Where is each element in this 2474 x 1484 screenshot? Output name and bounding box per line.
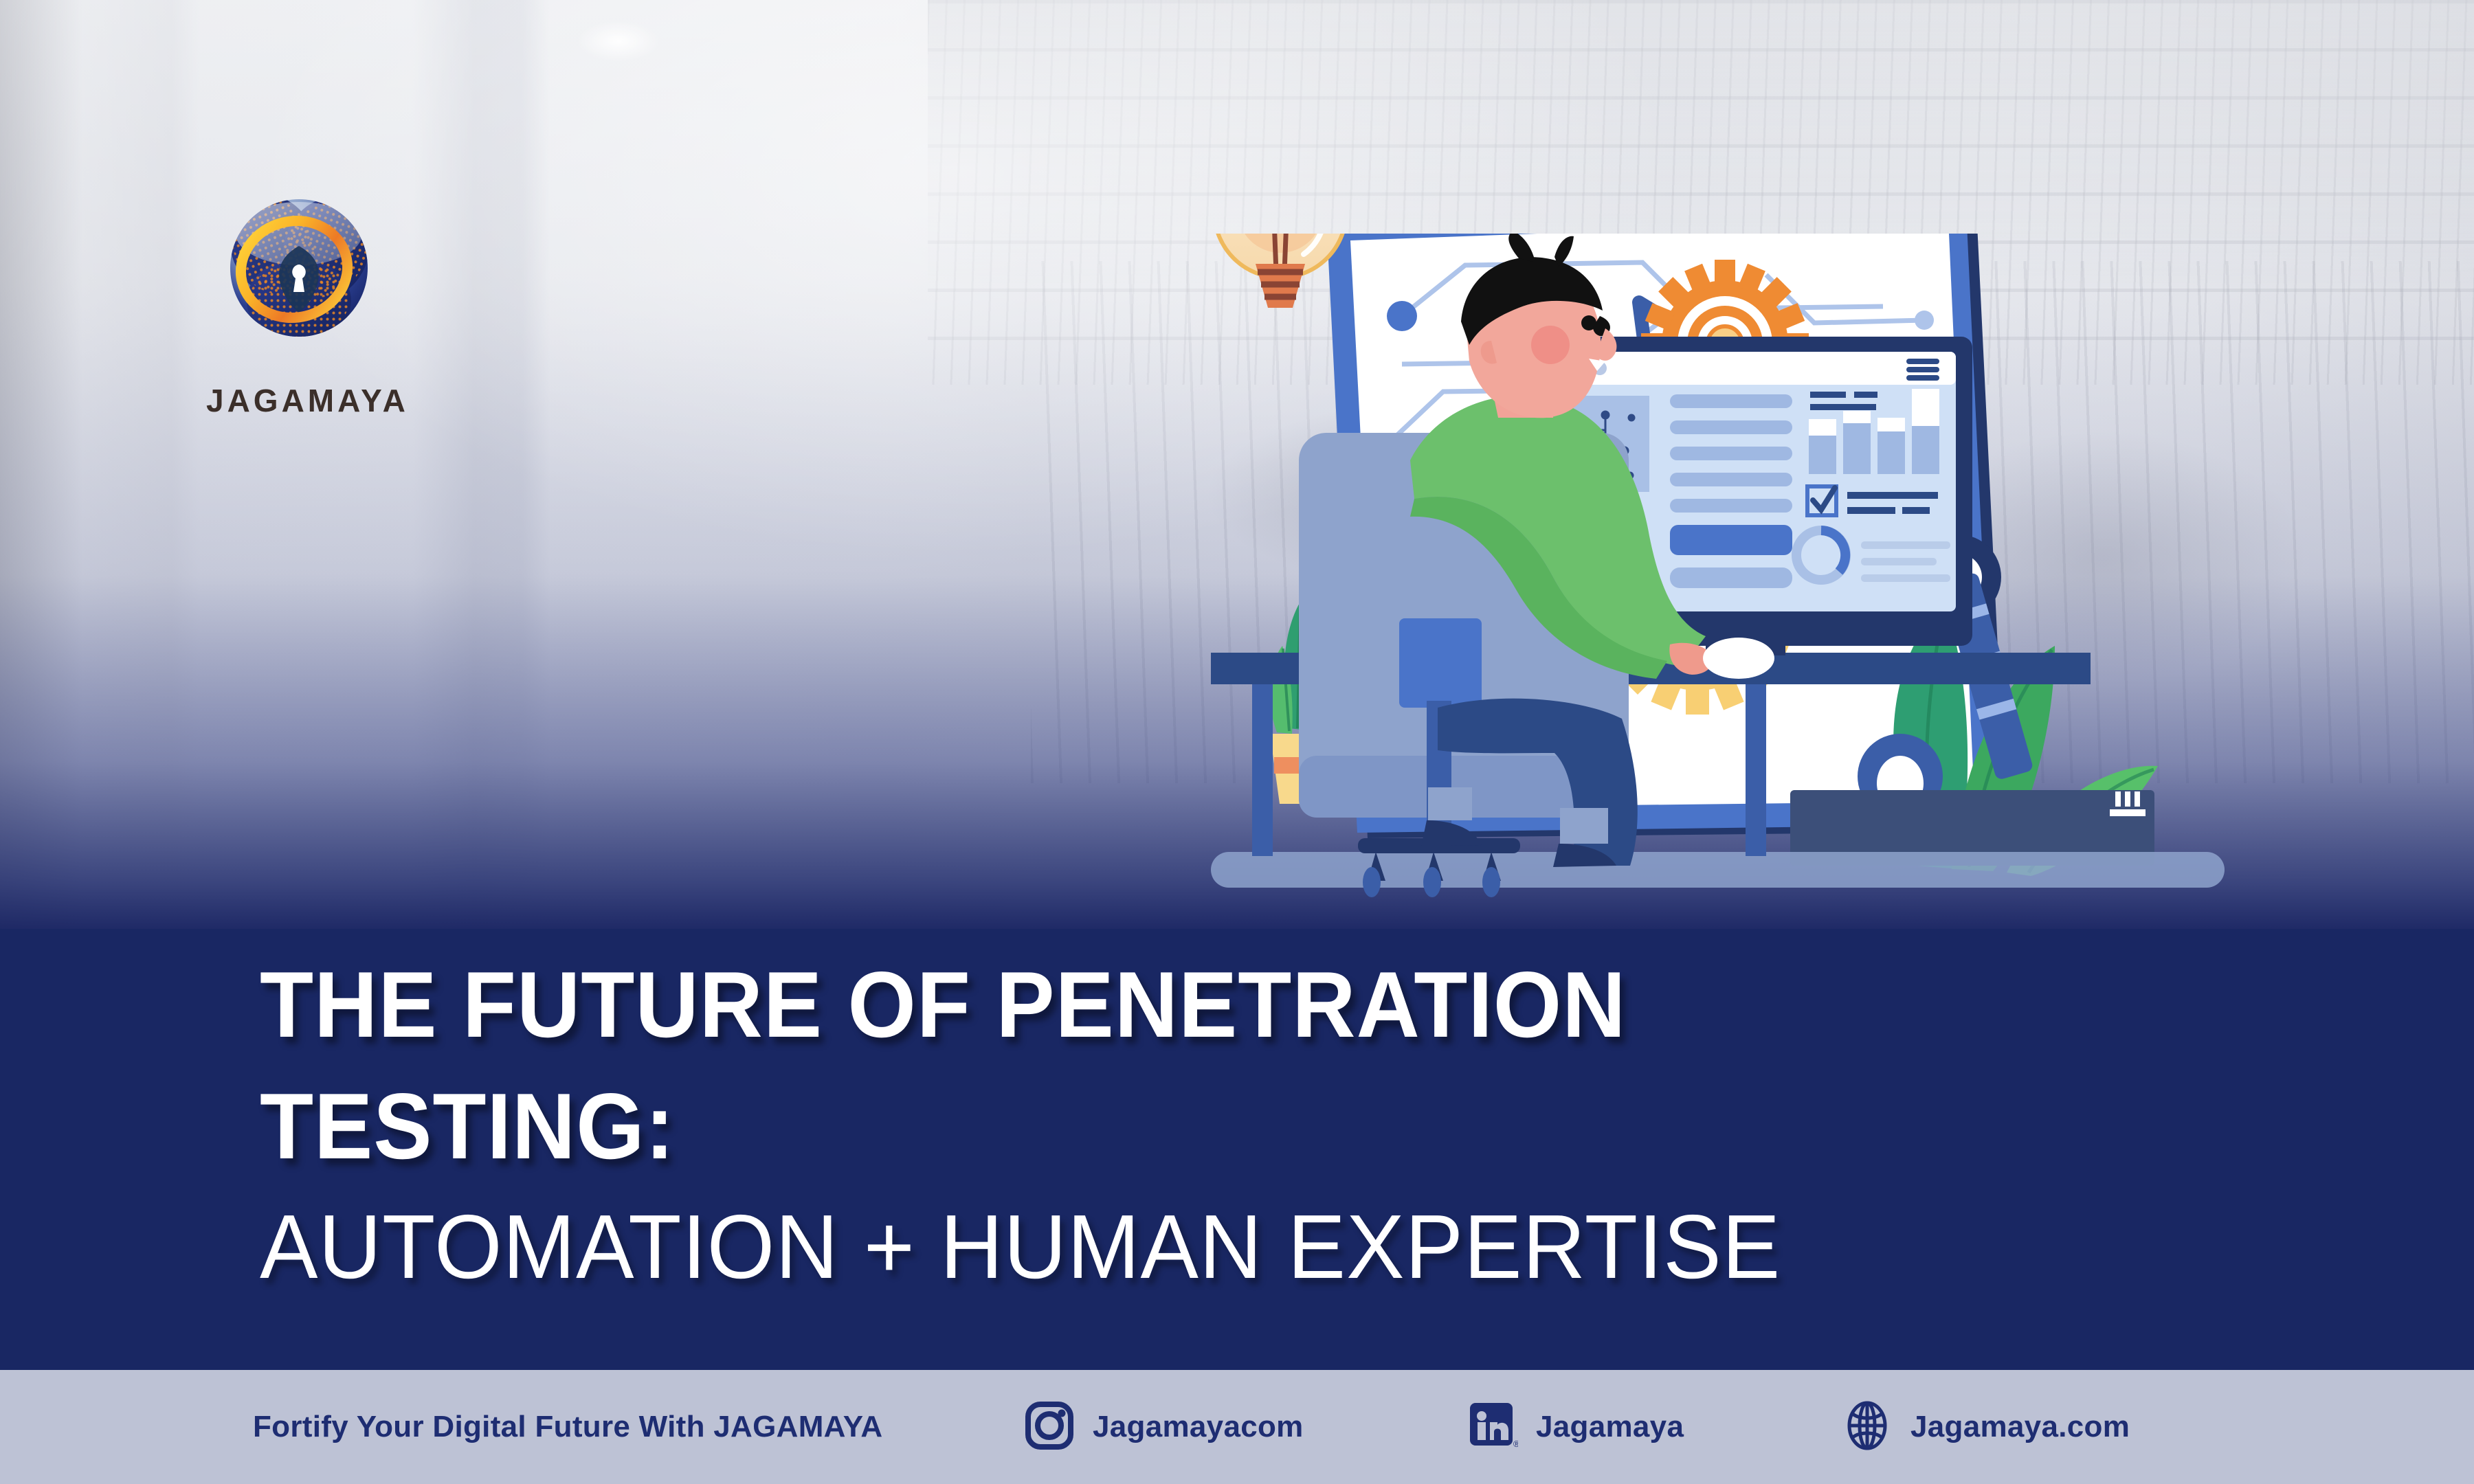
footer-contact-website[interactable]: Jagamaya.com — [1842, 1400, 2130, 1454]
brand-logo-block: JAGAMAYA — [206, 192, 392, 419]
linkedin-handle: Jagamaya — [1536, 1410, 1684, 1444]
headline-subtitle: AUTOMATION + HUMAN EXPERTISE — [260, 1200, 2305, 1295]
brand-wordmark: JAGAMAYA — [206, 382, 392, 419]
primary-button — [1670, 525, 1792, 555]
globe-icon — [1842, 1400, 1893, 1454]
website-handle: Jagamaya.com — [1910, 1410, 2130, 1444]
footer-contact-linkedin[interactable]: ® Jagamaya — [1467, 1400, 1684, 1454]
circuit-node — [1915, 311, 1934, 330]
svg-text:®: ® — [1513, 1439, 1518, 1449]
headline-line-2: TESTING: — [260, 1066, 2262, 1187]
secondary-button — [1670, 567, 1792, 588]
hero-illustration — [1196, 234, 2295, 927]
logo-svg — [213, 192, 385, 378]
title-band: THE FUTURE OF PENETRATION TESTING: AUTOM… — [0, 929, 2474, 1370]
illustration-svg — [1196, 234, 2295, 927]
headline-line-1: THE FUTURE OF PENETRATION — [260, 944, 2262, 1066]
circuit-node — [1387, 301, 1417, 331]
hamburger-icon — [1909, 361, 1937, 378]
cheek-blush — [1531, 326, 1570, 364]
footer-bar: Fortify Your Digital Future With JAGAMAY… — [0, 1370, 2474, 1484]
footer-contact-instagram[interactable]: Jagamayacom — [1024, 1400, 1304, 1454]
footer-tagline: Fortify Your Digital Future With JAGAMAY… — [253, 1410, 882, 1444]
jagamaya-trefoil-keyhole-logo — [213, 192, 385, 378]
marketing-banner: JAGAMAYA — [0, 0, 2474, 1484]
linkedin-icon: ® — [1467, 1400, 1518, 1454]
instagram-icon — [1024, 1400, 1075, 1454]
hero-section: JAGAMAYA — [0, 0, 2474, 929]
instagram-handle: Jagamayacom — [1093, 1410, 1304, 1444]
